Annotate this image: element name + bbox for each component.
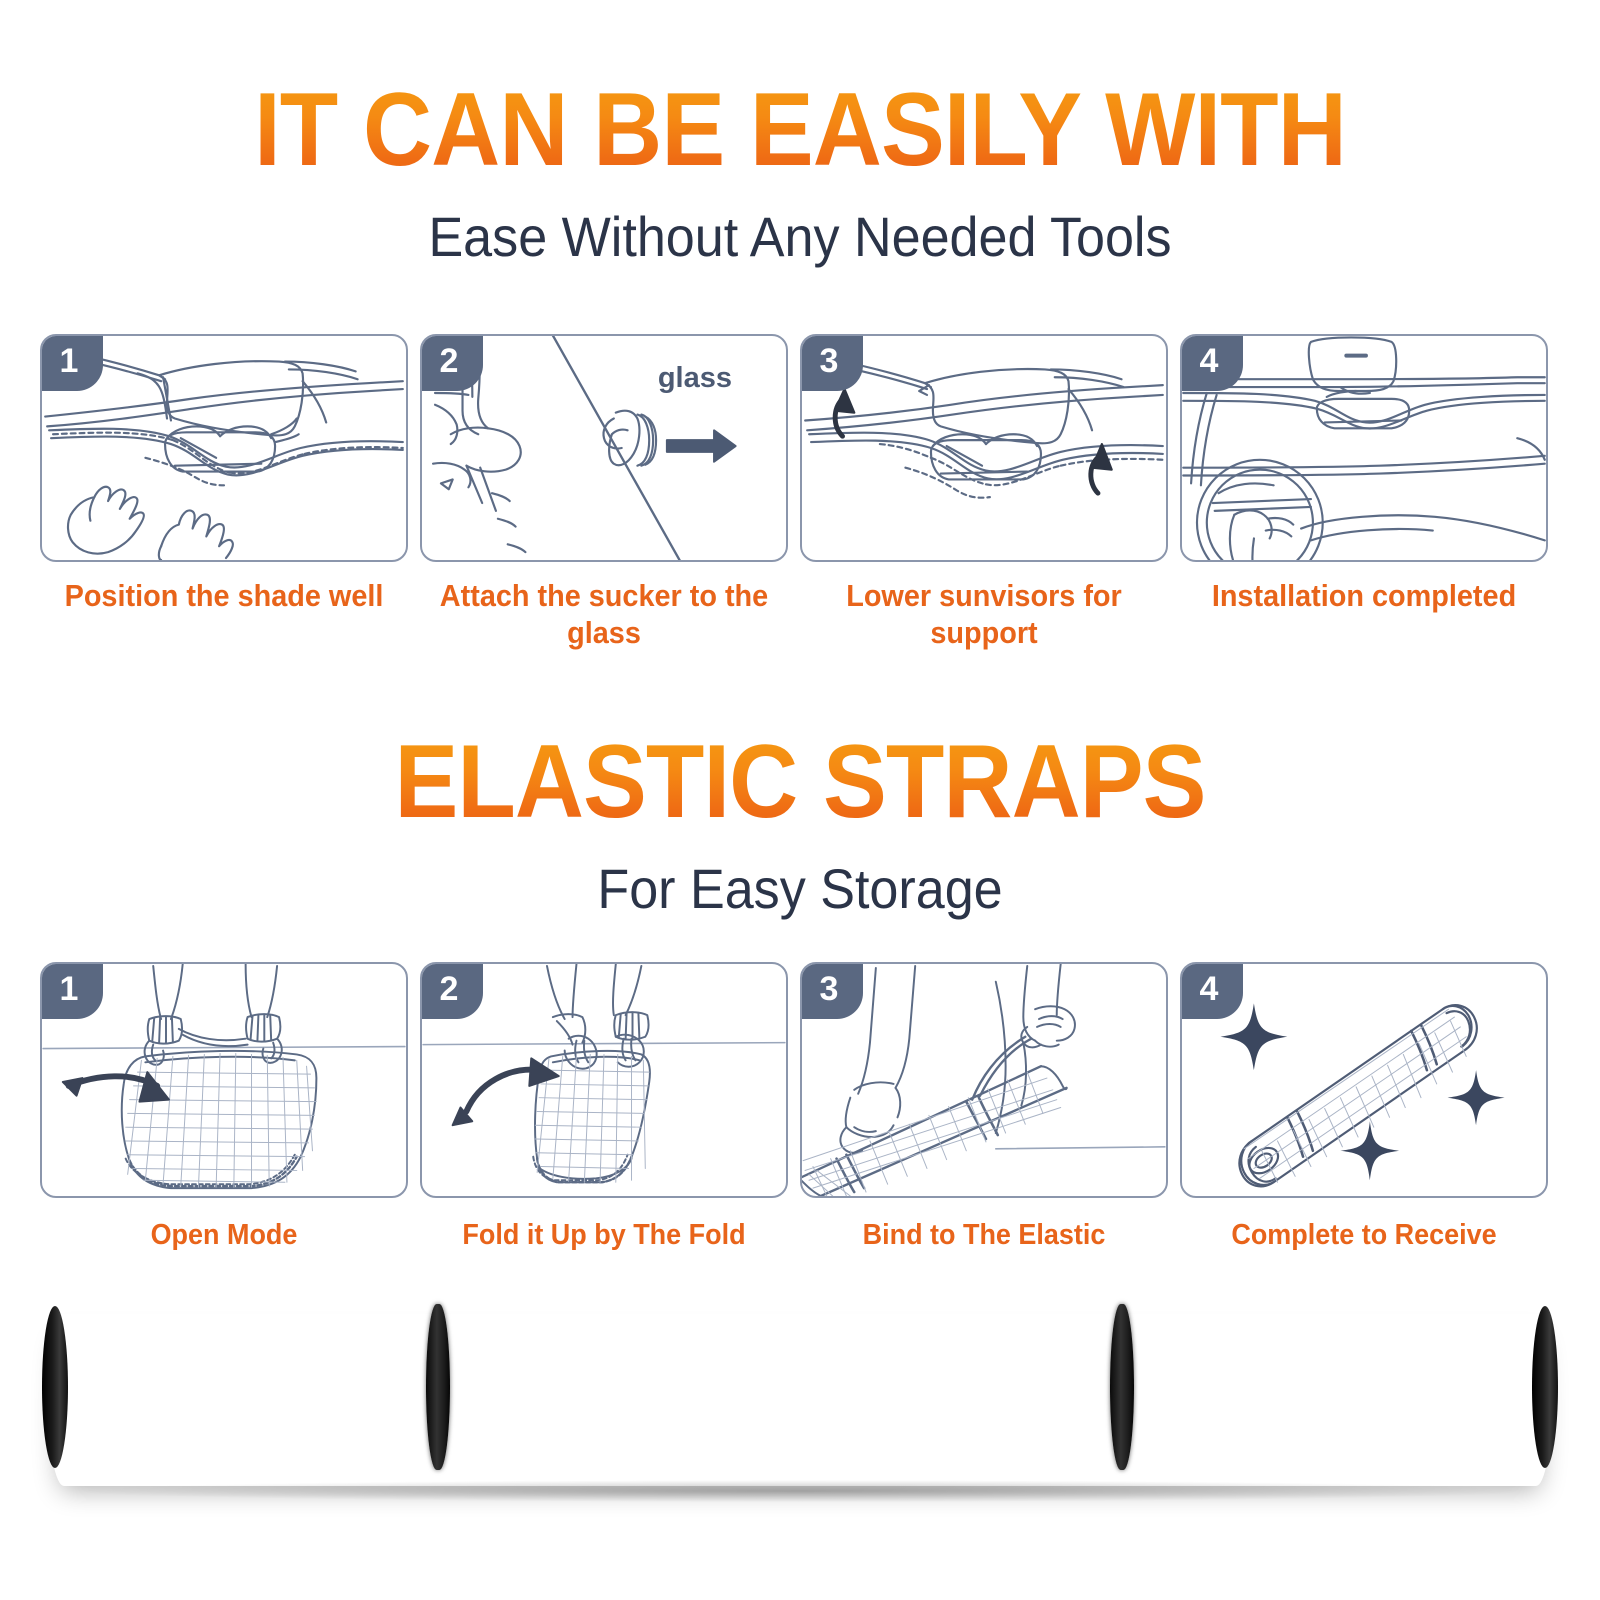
step-caption: Complete to Receive (1183, 1218, 1546, 1252)
storage-steps-row: 1 (40, 962, 1560, 1252)
section-subtitle: Ease Without Any Needed Tools (56, 204, 1544, 269)
step-caption: Attach the sucker to the glass (423, 578, 786, 651)
step-card-1: 1 (40, 334, 408, 651)
step-caption: Fold it Up by The Fold (423, 1218, 786, 1252)
section-subtitle: For Easy Storage (56, 856, 1544, 921)
step-number-badge: 3 (801, 335, 863, 391)
step-illustration-panel-1: 1 (40, 334, 408, 562)
storage-illustration-panel-1: 1 (40, 962, 408, 1198)
step-illustration-panel-3: 3 (800, 334, 1168, 562)
section-title: ELASTIC STRAPS (64, 730, 1536, 834)
step-illustration-panel-2: 2 glass (420, 334, 788, 562)
storage-card-2: 2 (420, 962, 788, 1252)
installation-steps-row: 1 (40, 334, 1560, 651)
step-number-badge: 1 (41, 335, 103, 391)
storage-illustration-panel-2: 2 (420, 962, 788, 1198)
storage-card-4: 4 (1180, 962, 1548, 1252)
step-number-badge: 3 (801, 963, 863, 1019)
step-caption: Lower sunvisors for support (803, 578, 1166, 651)
elastic-strap (426, 1304, 450, 1470)
storage-illustration-panel-3: 3 (800, 962, 1168, 1198)
step-number-badge: 2 (421, 335, 483, 391)
installation-section-heading: IT CAN BE EASILY WITH Ease Without Any N… (0, 78, 1600, 269)
step-caption: Installation completed (1183, 578, 1546, 615)
product-photo (48, 1300, 1552, 1500)
roll-end-cap-right (1532, 1306, 1558, 1468)
step-number-badge: 2 (421, 963, 483, 1019)
step-caption: Bind to The Elastic (803, 1218, 1166, 1252)
elastic-strap (1110, 1304, 1134, 1470)
step-card-4: 4 (1180, 334, 1548, 651)
step-number-badge: 4 (1181, 335, 1243, 391)
storage-card-3: 3 (800, 962, 1168, 1252)
step-card-2: 2 glass (420, 334, 788, 651)
step-caption: Open Mode (43, 1218, 406, 1252)
section-title: IT CAN BE EASILY WITH (64, 78, 1536, 182)
step-number-badge: 4 (1181, 963, 1243, 1019)
rolled-sunshade (48, 1314, 1552, 1486)
glass-label: glass (658, 362, 732, 395)
step-number-badge: 1 (41, 963, 103, 1019)
storage-illustration-panel-4: 4 (1180, 962, 1548, 1198)
step-caption: Position the shade well (43, 578, 406, 615)
storage-card-1: 1 (40, 962, 408, 1252)
storage-section-heading: ELASTIC STRAPS For Easy Storage (0, 730, 1600, 921)
step-illustration-panel-4: 4 (1180, 334, 1548, 562)
step-card-3: 3 (800, 334, 1168, 651)
painting-print-surface (48, 1314, 1552, 1486)
roll-end-cap-left (42, 1306, 68, 1468)
product-drop-shadow (88, 1480, 1512, 1502)
